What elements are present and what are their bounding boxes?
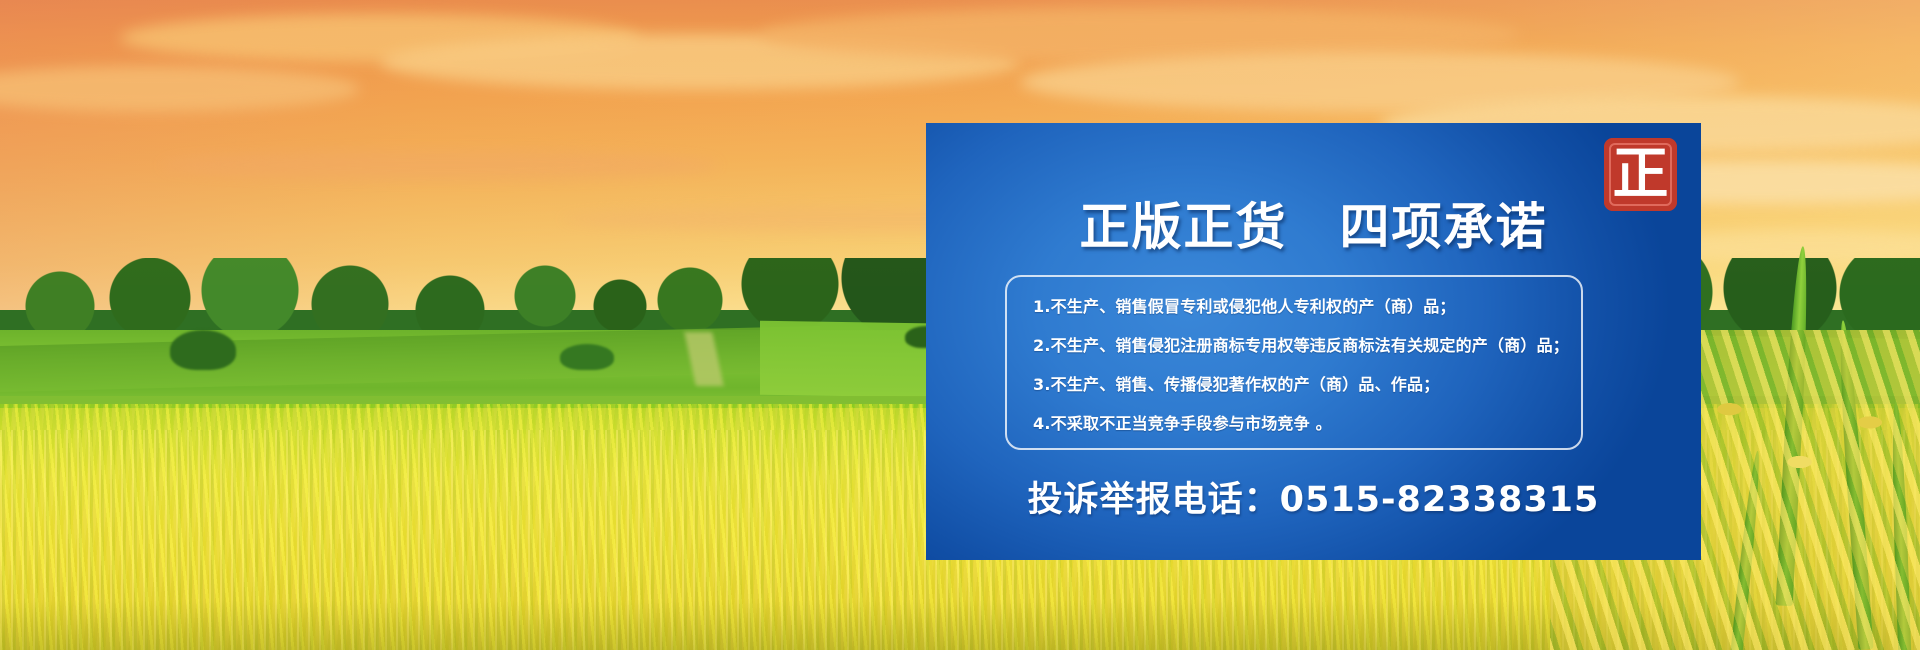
complaint-hotline: 投诉举报电话：0515-82338315 [926, 471, 1701, 522]
promise-item-1: 1.不生产、销售假冒专利或侵犯他人专利权的产（商）品； [1033, 299, 1555, 315]
bush-shape [560, 344, 614, 370]
promise-item-4: 4.不采取不正当竞争手段参与市场竞争 。 [1033, 416, 1555, 432]
banner-stage: 正 正版正货 四项承诺 1.不生产、销售假冒专利或侵犯他人专利权的产（商）品； … [0, 0, 1920, 650]
promise-item-2: 2.不生产、销售侵犯注册商标专用权等违反商标法有关规定的产（商）品； [1033, 338, 1555, 354]
promise-list: 1.不生产、销售假冒专利或侵犯他人专利权的产（商）品； 2.不生产、销售侵犯注册… [1007, 299, 1581, 432]
bush-shape [170, 330, 236, 370]
promise-panel: 正 正版正货 四项承诺 1.不生产、销售假冒专利或侵犯他人专利权的产（商）品； … [926, 123, 1701, 560]
promise-box: 1.不生产、销售假冒专利或侵犯他人专利权的产（商）品； 2.不生产、销售侵犯注册… [1005, 275, 1583, 450]
panel-headline: 正版正货 四项承诺 [926, 187, 1701, 259]
promise-item-3: 3.不生产、销售、传播侵犯著作权的产（商）品、作品； [1033, 377, 1555, 393]
cloud-shape [160, 150, 720, 180]
